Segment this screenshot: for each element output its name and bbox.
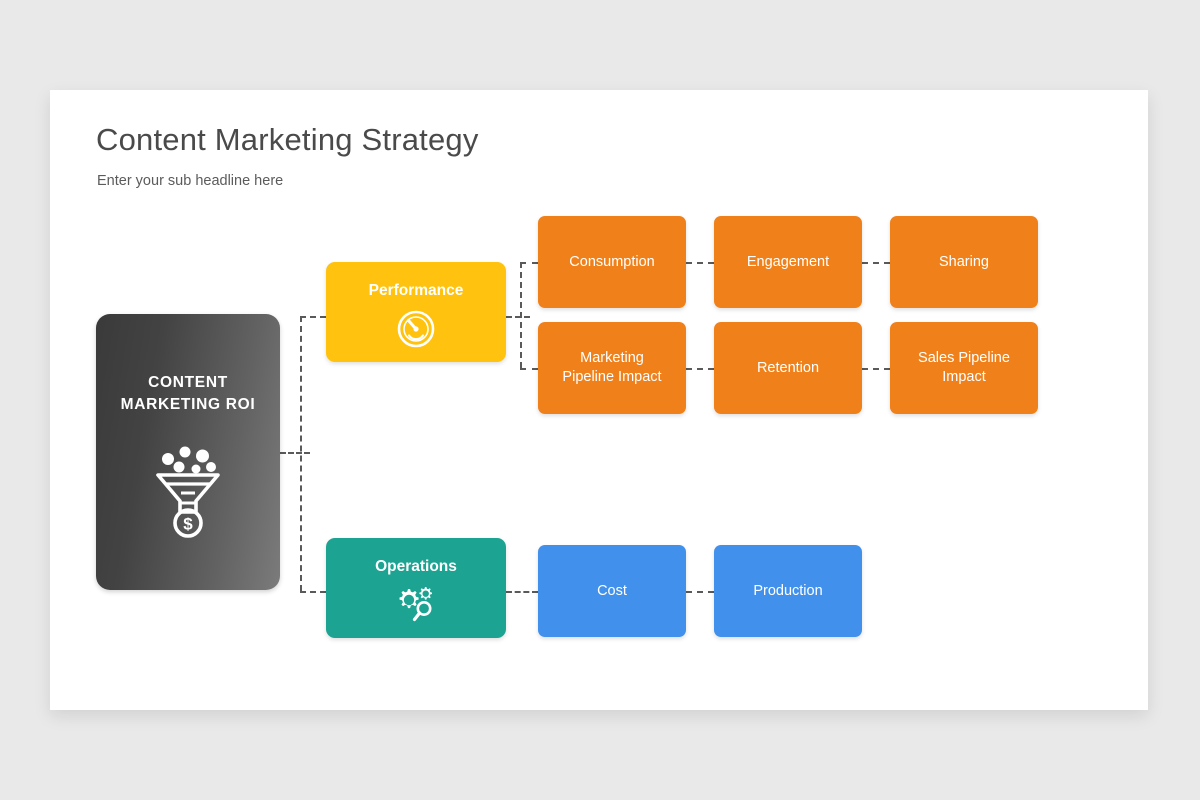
connector-retention-to-sales-pipeline [862,368,890,370]
connector-cost-to-production [686,591,714,593]
slide-card: Content Marketing Strategy Enter your su… [50,90,1148,710]
leaf-marketing-pipeline-impact[interactable]: Marketing Pipeline Impact [538,322,686,414]
node-operations[interactable]: Operations [326,538,506,638]
root-label-line2: MARKETING ROI [121,394,256,416]
connector-trunk-to-performance [300,316,326,318]
connector-operations-to-cost [506,591,538,593]
leaf-cost-label: Cost [597,582,627,601]
leaf-engagement[interactable]: Engagement [714,216,862,308]
leaf-production[interactable]: Production [714,545,862,637]
node-performance[interactable]: Performance [326,262,506,362]
leaf-sharing[interactable]: Sharing [890,216,1038,308]
performance-label: Performance [369,282,464,300]
connector-performance-bus-vertical [520,262,522,368]
gears-magnifier-icon [394,585,438,625]
operations-label: Operations [375,558,457,576]
leaf-consumption-label: Consumption [569,253,654,272]
leaf-consumption[interactable]: Consumption [538,216,686,308]
connector-consumption-to-engagement [686,262,714,264]
connector-performance-to-bus [506,316,530,318]
leaf-marketing-pipeline-impact-label-line2: Pipeline Impact [562,368,661,387]
speedometer-icon [396,309,436,349]
leaf-sales-pipeline-impact[interactable]: Sales Pipeline Impact [890,322,1038,414]
leaf-retention-label: Retention [757,359,819,378]
leaf-sales-pipeline-impact-label-line2: Impact [942,368,986,387]
svg-text:$: $ [183,515,193,534]
leaf-marketing-pipeline-impact-label-line1: Marketing [580,349,644,368]
funnel-money-icon: $ [155,446,221,538]
connector-engagement-to-sharing [862,262,890,264]
leaf-sales-pipeline-impact-label-line1: Sales Pipeline [918,349,1010,368]
slide-stage: Content Marketing Strategy Enter your su… [0,0,1200,800]
leaf-cost[interactable]: Cost [538,545,686,637]
leaf-engagement-label: Engagement [747,253,829,272]
connector-root-to-trunk [280,452,310,454]
connector-trunk-to-operations [300,591,326,593]
node-content-marketing-roi[interactable]: CONTENT MARKETING ROI $ [96,314,280,590]
root-label-line1: CONTENT [148,372,228,394]
leaf-retention[interactable]: Retention [714,322,862,414]
connector-trunk-vertical [300,316,302,591]
page-subtitle: Enter your sub headline here [97,173,283,189]
leaf-sharing-label: Sharing [939,253,989,272]
leaf-production-label: Production [753,582,822,601]
page-title: Content Marketing Strategy [96,122,479,158]
connector-marketing-to-retention [686,368,714,370]
connector-bus-to-marketing-pipeline-impact [520,368,538,370]
connector-bus-to-consumption [520,262,538,264]
